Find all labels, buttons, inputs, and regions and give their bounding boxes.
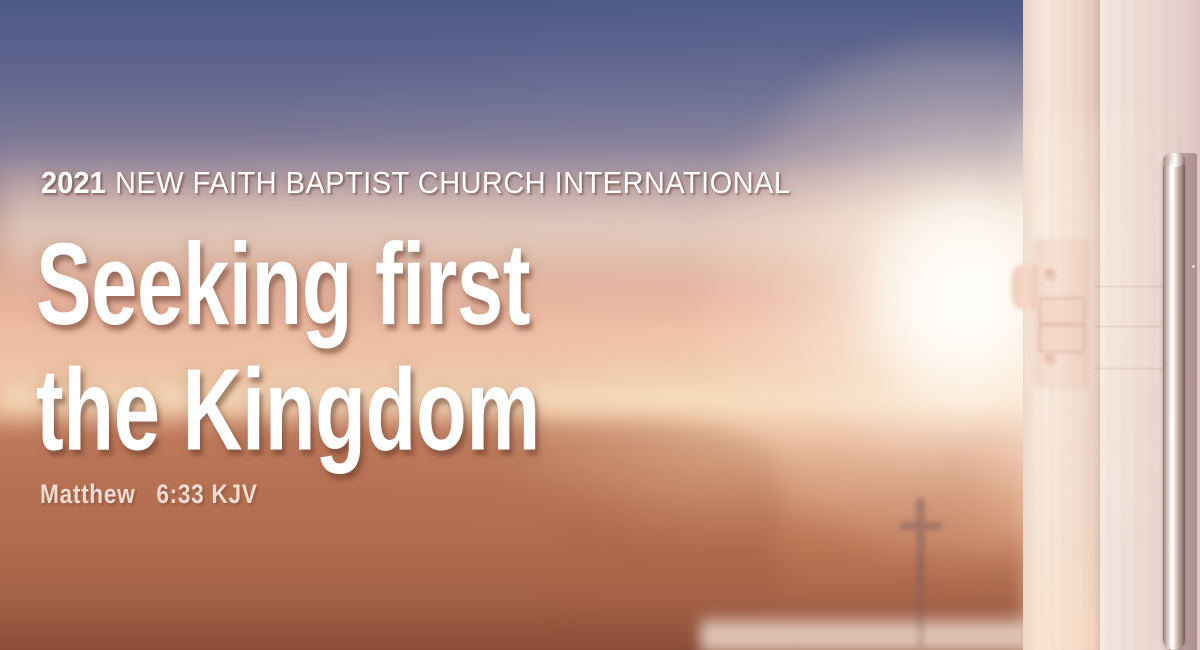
eyebrow-line: 2021NEW FAITH BAPTIST CHURCH INTERNATION… bbox=[41, 164, 790, 202]
page-title: Seeking first the Kingdom bbox=[36, 222, 756, 473]
title-graphic-canvas: 2021NEW FAITH BAPTIST CHURCH INTERNATION… bbox=[0, 0, 1200, 650]
handle-bar bbox=[1163, 156, 1185, 650]
hinge-bracket-icon bbox=[1039, 323, 1085, 353]
hinge-screw-icon bbox=[1044, 268, 1057, 281]
headline-line-2: the Kingdom bbox=[36, 347, 756, 472]
handle-speck-highlight bbox=[1192, 265, 1195, 268]
door-pull-handle[interactable] bbox=[1163, 153, 1197, 650]
scripture-reference: Matthew 6:33 KJV bbox=[40, 479, 258, 510]
text-overlay: 2021NEW FAITH BAPTIST CHURCH INTERNATION… bbox=[0, 0, 1010, 650]
headline-line-1: Seeking first bbox=[36, 222, 756, 347]
handle-top-cap bbox=[1163, 153, 1185, 167]
hinge-screw-icon bbox=[1044, 353, 1057, 366]
eyebrow-organization: NEW FAITH BAPTIST CHURCH INTERNATIONAL bbox=[115, 165, 790, 200]
eyebrow-year: 2021 bbox=[41, 165, 106, 200]
door-seam-line bbox=[1095, 326, 1161, 327]
handle-specular-highlight bbox=[1170, 163, 1174, 645]
